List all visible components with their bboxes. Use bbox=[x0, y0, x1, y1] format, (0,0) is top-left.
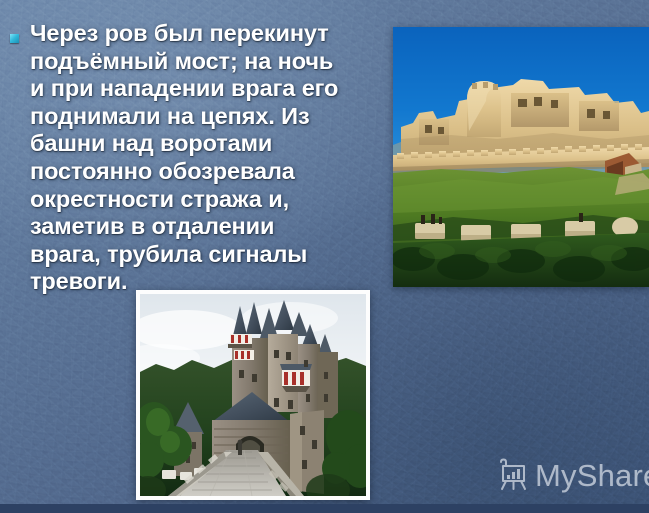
presentation-slide: Через ров был перекинут подъёмный мост; … bbox=[0, 0, 649, 513]
slide-body-text: Через ров был перекинут подъёмный мост; … bbox=[6, 20, 386, 296]
photo-burg-eltz-artwork bbox=[140, 294, 366, 496]
photo-fortress bbox=[393, 27, 649, 287]
myshared-watermark: MyShare bbox=[494, 458, 649, 492]
watermark-label: MyShare bbox=[535, 460, 649, 491]
paragraph-text: Через ров был перекинут подъёмный мост; … bbox=[30, 20, 386, 296]
bottom-edge-band bbox=[0, 504, 649, 513]
photo-fortress-artwork bbox=[393, 27, 649, 287]
presentation-board-icon bbox=[494, 458, 528, 492]
square-bullet-icon bbox=[10, 34, 19, 43]
photo-burg-eltz bbox=[136, 290, 370, 500]
